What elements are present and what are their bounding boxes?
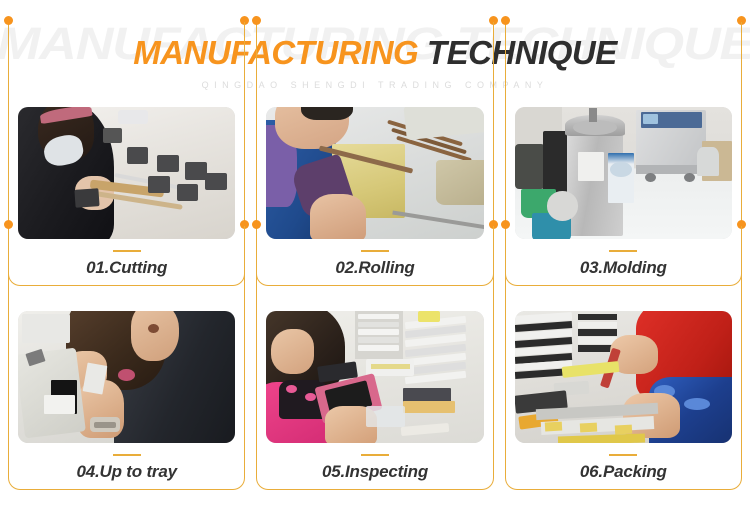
page-title: MANUFACTURING TECHNIQUE [0, 36, 750, 69]
photo-cutting [18, 107, 235, 239]
process-step-card-01[interactable]: 01.Cutting [8, 108, 245, 286]
page-title-secondary: TECHNIQUE [427, 34, 617, 71]
page-title-primary: MANUFACTURING [133, 34, 427, 71]
step-caption-04: 04.Up to tray [9, 446, 244, 489]
photo-molding [515, 107, 732, 239]
corner-dot-right-icon [489, 16, 498, 25]
corner-dot-right-icon [737, 16, 746, 25]
process-step-card-03[interactable]: 03.Molding [505, 108, 742, 286]
step-caption-06: 06.Packing [506, 446, 741, 489]
step-label-05: 05.Inspecting [322, 462, 428, 482]
step-caption-01: 01.Cutting [9, 242, 244, 285]
step-label-04: 04.Up to tray [76, 462, 176, 482]
caption-divider [361, 250, 389, 252]
step-caption-02: 02.Rolling [257, 242, 492, 285]
corner-dot-left-icon [501, 16, 510, 25]
corner-dot-right-icon [737, 220, 746, 229]
caption-divider [113, 250, 141, 252]
corner-dot-right-icon [489, 220, 498, 229]
step-label-06: 06.Packing [580, 462, 667, 482]
corner-dot-left-icon [501, 220, 510, 229]
caption-divider [609, 454, 637, 456]
step-caption-03: 03.Molding [506, 242, 741, 285]
photo-rolling [266, 107, 483, 239]
caption-divider [113, 454, 141, 456]
step-label-03: 03.Molding [580, 258, 667, 278]
step-label-02: 02.Rolling [335, 258, 414, 278]
process-step-card-06[interactable]: 06.Packing [505, 312, 742, 490]
photo-packing [515, 311, 732, 443]
caption-divider [361, 454, 389, 456]
process-step-card-04[interactable]: 04.Up to tray [8, 312, 245, 490]
step-label-01: 01.Cutting [86, 258, 167, 278]
step-caption-05: 05.Inspecting [257, 446, 492, 489]
process-step-card-02[interactable]: 02.Rolling [256, 108, 493, 286]
caption-divider [609, 250, 637, 252]
photo-up-to-tray [18, 311, 235, 443]
process-step-grid: 01.Cutting [0, 108, 750, 512]
process-step-card-05[interactable]: 05.Inspecting [256, 312, 493, 490]
page-header: MANUFACTURING TECHNIQUE MANUFACTURING TE… [0, 0, 750, 108]
corner-dot-left-icon [4, 220, 13, 229]
corner-dot-left-icon [4, 16, 13, 25]
company-subtitle: QINGDAO SHENGDI TRADING COMPANY [0, 80, 750, 90]
photo-inspecting [266, 311, 483, 443]
corner-dot-right-icon [240, 220, 249, 229]
